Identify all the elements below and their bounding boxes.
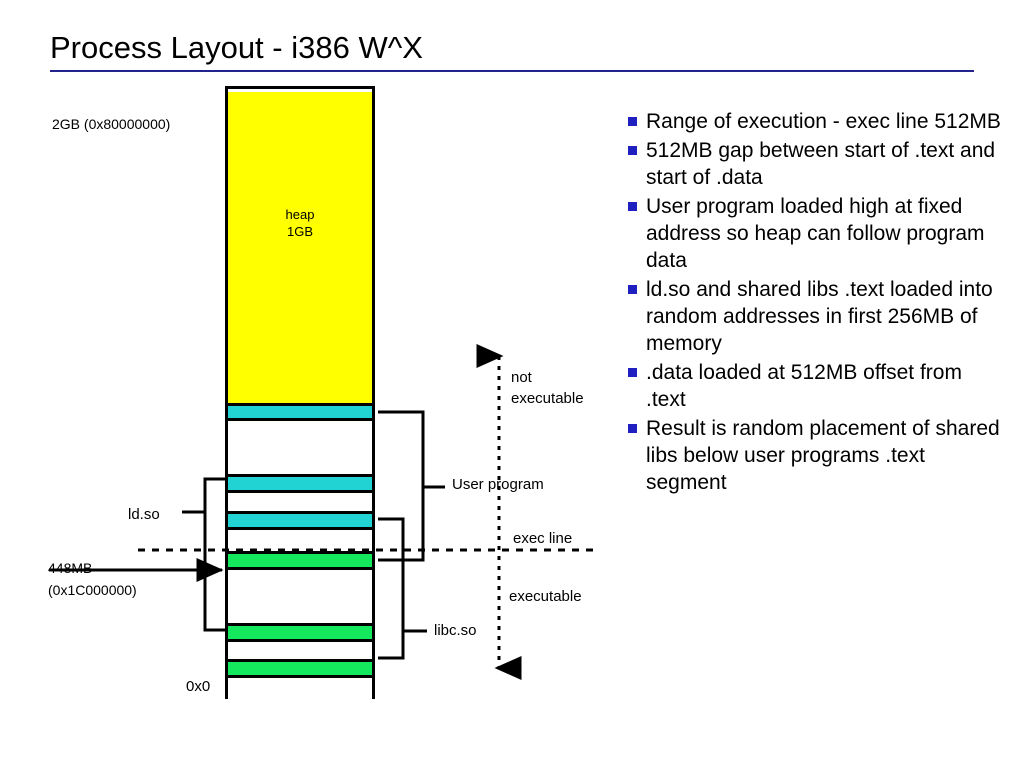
list-item: User program loaded high at fixed addres…	[628, 193, 1006, 274]
memory-band-data-band-3	[228, 659, 372, 678]
region-label-not-executable: not executable	[511, 367, 584, 409]
marker-label-exec-line: exec line	[513, 528, 572, 549]
square-bullet-icon	[628, 146, 637, 155]
bracket-libc-so	[378, 519, 427, 658]
memory-band-data-band-1	[228, 551, 372, 570]
bullet-list: Range of execution - exec line 512MB 512…	[628, 108, 1006, 498]
bracket-label-ldso: ld.so	[128, 504, 160, 526]
memory-band-gap-5	[228, 642, 372, 659]
bullet-text: Range of execution - exec line 512MB	[646, 108, 1001, 135]
bullet-text: .data loaded at 512MB offset from .text	[646, 359, 1006, 413]
square-bullet-icon	[628, 117, 637, 126]
bullet-text: ld.so and shared libs .text loaded into …	[646, 276, 1006, 357]
bracket-label-user-program: User program	[452, 474, 544, 495]
bracket-user-program	[378, 412, 445, 560]
memory-band-gap-2	[228, 493, 372, 511]
address-label-448mb: 448MB (0x1C000000)	[48, 557, 137, 601]
square-bullet-icon	[628, 368, 637, 377]
bullet-text: Result is random placement of shared lib…	[646, 415, 1006, 496]
memory-band-text-band-3	[228, 511, 372, 530]
memory-layout-column: heap 1GB	[225, 86, 375, 699]
memory-band-data-band-2	[228, 623, 372, 642]
address-label-0x0: 0x0	[186, 676, 210, 698]
address-label-2gb: 2GB (0x80000000)	[52, 113, 170, 135]
memory-band-text-band-2	[228, 474, 372, 493]
list-item: ld.so and shared libs .text loaded into …	[628, 276, 1006, 357]
memory-band-heap	[228, 92, 372, 403]
bracket-label-libc-so: libc.so	[434, 620, 477, 641]
memory-band-gap-4	[228, 570, 372, 623]
title-divider	[50, 70, 974, 72]
bullet-text: User program loaded high at fixed addres…	[646, 193, 1006, 274]
memory-band-gap-6	[228, 678, 372, 699]
memory-band-gap-1	[228, 421, 372, 474]
memory-band-gap-3	[228, 530, 372, 551]
square-bullet-icon	[628, 285, 637, 294]
list-item: .data loaded at 512MB offset from .text	[628, 359, 1006, 413]
square-bullet-icon	[628, 424, 637, 433]
list-item: 512MB gap between start of .text and sta…	[628, 137, 1006, 191]
square-bullet-icon	[628, 202, 637, 211]
region-label-executable: executable	[509, 586, 582, 607]
bracket-ldso	[182, 479, 225, 630]
list-item: Result is random placement of shared lib…	[628, 415, 1006, 496]
list-item: Range of execution - exec line 512MB	[628, 108, 1006, 135]
heap-label: heap 1GB	[228, 206, 372, 240]
page-title: Process Layout - i386 W^X	[50, 30, 423, 66]
memory-band-text-band-1	[228, 403, 372, 421]
bullet-text: 512MB gap between start of .text and sta…	[646, 137, 1006, 191]
